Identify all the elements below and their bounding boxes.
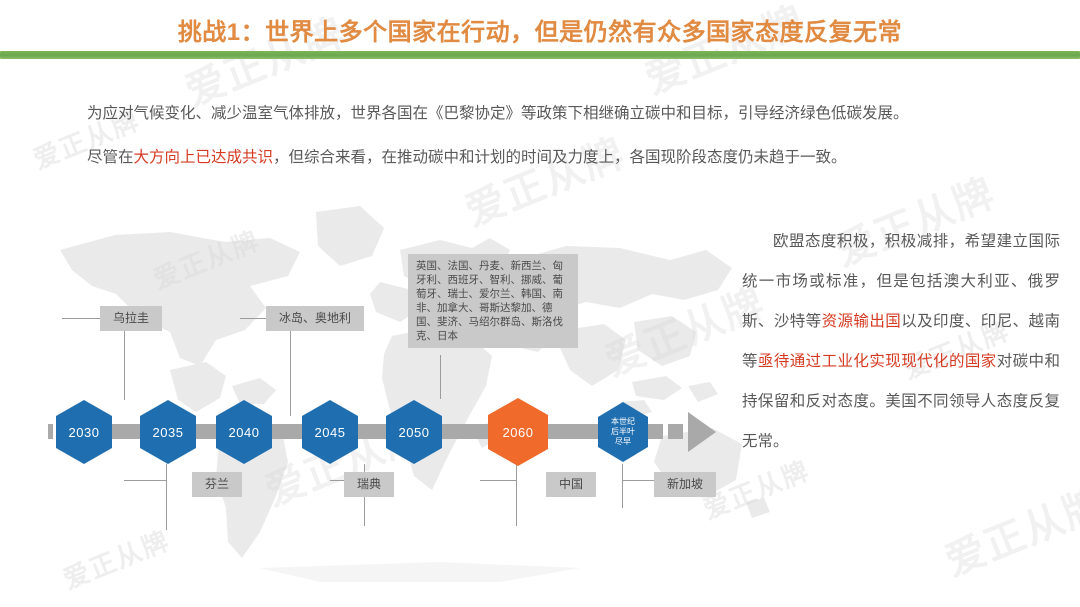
timeline-node-late-century[interactable]: 本世纪 后半叶 尽早 bbox=[598, 402, 648, 462]
watermark-text: 爱正从牌 bbox=[935, 471, 1080, 588]
intro-highlight: 大方向上已达成共识 bbox=[134, 149, 274, 166]
timeline-arrow-icon bbox=[688, 412, 716, 452]
node-label: 2060 bbox=[503, 425, 534, 440]
connector-line bbox=[290, 328, 291, 416]
intro-line-2-a: 尽管在 bbox=[87, 149, 134, 166]
carbon-neutrality-timeline: 2030 2035 2040 2045 2050 2060 本世纪 后半叶 尽早… bbox=[0, 180, 760, 600]
side-commentary: 欧盟态度积极，积极减排，希望建立国际统一市场或标准，但是包括澳大利亚、俄罗斯、沙… bbox=[742, 222, 1060, 462]
timeline-node-2050[interactable]: 2050 bbox=[386, 400, 442, 464]
timeline-node-2060[interactable]: 2060 bbox=[488, 398, 548, 466]
timeline-tag-uruguay[interactable]: 乌拉圭 bbox=[100, 306, 162, 331]
timeline-node-2045[interactable]: 2045 bbox=[302, 400, 358, 464]
page-title: 挑战1：世界上多个国家在行动，但是仍然有众多国家态度反复无常 bbox=[0, 12, 1080, 47]
connector-line bbox=[516, 464, 517, 526]
connector-line bbox=[440, 355, 441, 399]
node-label: 2030 bbox=[69, 425, 100, 440]
connector-line bbox=[124, 328, 125, 400]
timeline-tag-iceland-austria[interactable]: 冰岛、奥地利 bbox=[266, 306, 364, 331]
timeline-node-2035[interactable]: 2035 bbox=[140, 400, 196, 464]
timeline-axis-dash bbox=[668, 424, 683, 439]
header-divider bbox=[0, 51, 1080, 59]
node-label-line-2: 后半叶 bbox=[611, 427, 635, 436]
connector-elbow bbox=[480, 480, 516, 481]
timeline-tag-singapore[interactable]: 新加坡 bbox=[654, 472, 716, 497]
timeline-axis-cap bbox=[48, 424, 53, 439]
timeline-tag-china[interactable]: 中国 bbox=[546, 472, 596, 497]
intro-line-2: 尽管在大方向上已达成共识，但综合来看，在推动碳中和计划的时间及力度上，各国现阶段… bbox=[56, 136, 1036, 180]
side-highlight-1: 资源输出国 bbox=[822, 313, 902, 330]
intro-paragraph: 为应对气候变化、减少温室气体排放，世界各国在《巴黎协定》等政策下相继确立碳中和目… bbox=[56, 92, 1036, 180]
node-label: 2040 bbox=[229, 425, 260, 440]
node-label: 2035 bbox=[153, 425, 184, 440]
connector-elbow bbox=[124, 480, 166, 481]
timeline-axis-dash bbox=[648, 424, 663, 439]
timeline-tag-country-list[interactable]: 英国、法国、丹麦、新西兰、匈牙利、西班牙、智利、挪威、葡萄牙、瑞士、爱尔兰、韩国… bbox=[408, 254, 578, 348]
side-paragraph: 欧盟态度积极，积极减排，希望建立国际统一市场或标准，但是包括澳大利亚、俄罗斯、沙… bbox=[742, 222, 1060, 462]
timeline-tag-finland[interactable]: 芬兰 bbox=[192, 472, 242, 497]
intro-line-2-b: ，但综合来看，在推动碳中和计划的时间及力度上，各国现阶段态度仍未趋于一致。 bbox=[273, 149, 847, 166]
node-label-line-1: 本世纪 bbox=[611, 417, 635, 426]
node-label-multiline: 本世纪 后半叶 尽早 bbox=[611, 417, 635, 447]
side-highlight-2: 亟待通过工业化实现现代化的国家 bbox=[758, 353, 997, 370]
timeline-node-2030[interactable]: 2030 bbox=[56, 400, 112, 464]
timeline-node-2040[interactable]: 2040 bbox=[216, 400, 272, 464]
connector-line bbox=[622, 464, 623, 508]
node-label: 2050 bbox=[399, 425, 430, 440]
node-label: 2045 bbox=[315, 425, 346, 440]
node-label-line-3: 尽早 bbox=[615, 437, 631, 446]
connector-line bbox=[166, 464, 167, 530]
intro-line-1: 为应对气候变化、减少温室气体排放，世界各国在《巴黎协定》等政策下相继确立碳中和目… bbox=[56, 92, 1036, 136]
timeline-tag-sweden[interactable]: 瑞典 bbox=[344, 472, 394, 497]
slide-canvas: 爱正从牌 爱正从牌 爱正从牌 爱正从牌 爱正从牌 爱正从牌 爱正从牌 爱正从牌 … bbox=[0, 0, 1080, 607]
slide-header: 挑战1：世界上多个国家在行动，但是仍然有众多国家态度反复无常 bbox=[0, 0, 1080, 62]
